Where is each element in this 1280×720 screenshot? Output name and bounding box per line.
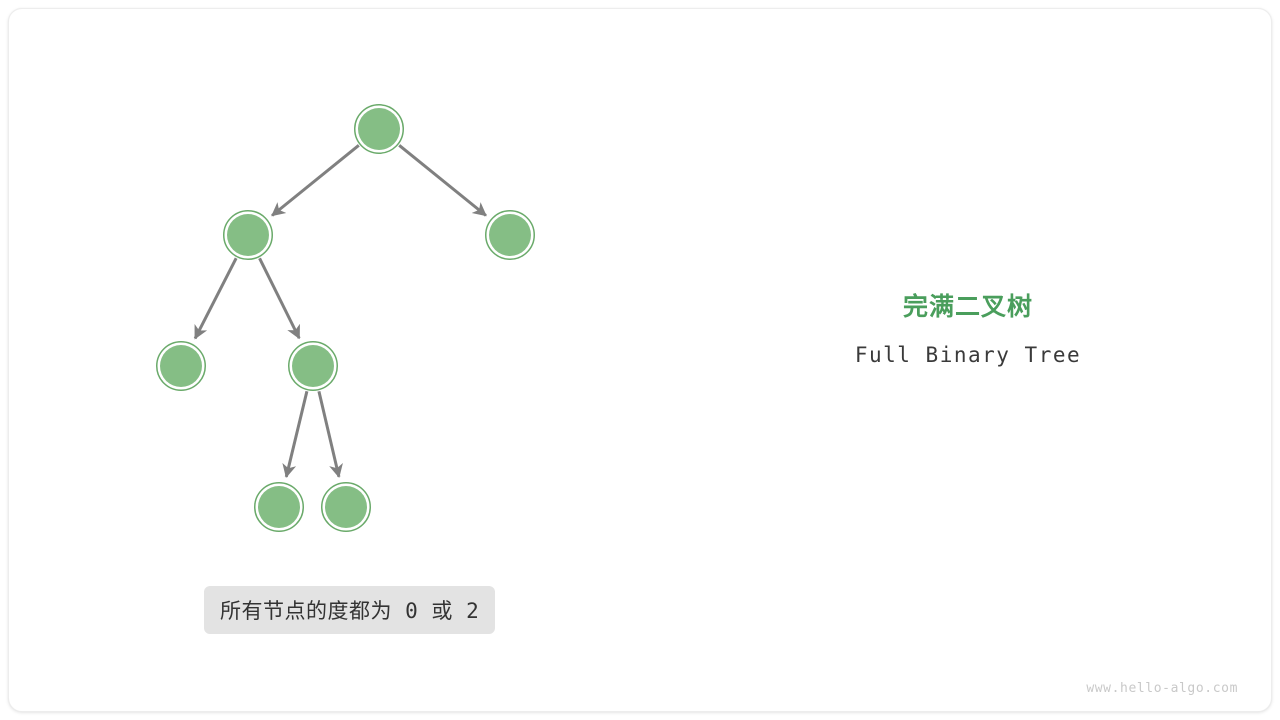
tree-edge xyxy=(319,391,339,477)
tree-edge xyxy=(286,391,307,477)
diagram-caption-chip: 所有节点的度都为 0 或 2 xyxy=(204,586,495,634)
tree-node-fill xyxy=(160,345,202,387)
tree-node-layer xyxy=(157,105,535,532)
tree-node xyxy=(486,211,535,260)
tree-node-fill xyxy=(258,486,300,528)
tree-node xyxy=(289,342,338,391)
screenshot-root: 完满二叉树 Full Binary Tree 所有节点的度都为 0 或 2 ww… xyxy=(0,0,1280,720)
diagram-caption-text: 所有节点的度都为 0 或 2 xyxy=(220,595,479,625)
tree-edge xyxy=(272,145,359,215)
tree-edge xyxy=(260,258,300,338)
site-watermark: www.hello-algo.com xyxy=(1086,681,1238,696)
tree-node xyxy=(157,342,206,391)
tree-edge-layer xyxy=(195,145,486,477)
tree-node-fill xyxy=(489,214,531,256)
tree-node-fill xyxy=(358,108,400,150)
concept-title: 完满二叉树 xyxy=(768,292,1168,322)
concept-subtitle: Full Binary Tree xyxy=(768,343,1168,367)
tree-node-fill xyxy=(227,214,269,256)
tree-edge xyxy=(195,258,236,338)
tree-node xyxy=(355,105,404,154)
tree-node-fill xyxy=(292,345,334,387)
concept-label-block: 完满二叉树 Full Binary Tree xyxy=(768,292,1168,367)
tree-node xyxy=(224,211,273,260)
tree-node xyxy=(255,483,304,532)
tree-node-fill xyxy=(325,486,367,528)
tree-edge xyxy=(399,145,486,215)
tree-node xyxy=(322,483,371,532)
